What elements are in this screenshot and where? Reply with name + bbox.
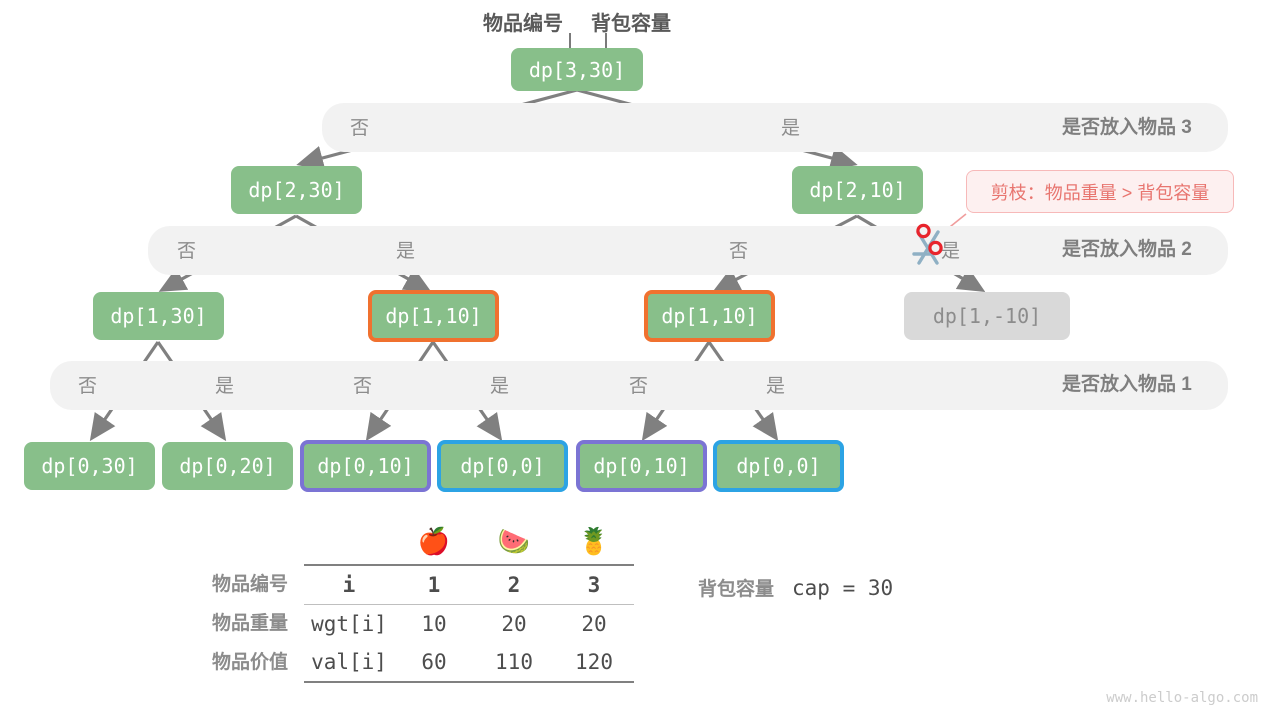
fruit-pineapple-icon: 🍍 [554, 520, 634, 565]
band1-label-no-2: 否 [353, 377, 372, 396]
node-dp-2-10[interactable]: dp[2,10] [792, 166, 923, 214]
node-dp-2-30[interactable]: dp[2,30] [231, 166, 362, 214]
leaf-dp-0-30[interactable]: dp[0,30] [24, 442, 155, 490]
capacity-note-expr: cap = 30 [792, 576, 893, 600]
cell-val-2: 110 [474, 643, 554, 682]
band3-title: 是否放入物品 3 [1062, 118, 1192, 137]
table-row-weight: 物品重量 wgt[i] 10 20 20 [170, 605, 634, 644]
band3-label-no: 否 [350, 119, 369, 138]
node-dp-1-10-b[interactable]: dp[1,10] [644, 290, 775, 342]
emoji-row-head [170, 520, 304, 565]
leaf-dp-0-10-a[interactable]: dp[0,10] [300, 440, 431, 492]
cell-i-2: 2 [474, 565, 554, 605]
row-head-item-value: 物品价值 [170, 643, 304, 682]
leaf-dp-0-0-b[interactable]: dp[0,0] [713, 440, 844, 492]
band1-label-no-3: 否 [629, 377, 648, 396]
cell-i-1: 1 [394, 565, 474, 605]
cell-wgt-3: 20 [554, 605, 634, 644]
table-row-value: 物品价值 val[i] 60 110 120 [170, 643, 634, 682]
cell-wgt-1: 10 [394, 605, 474, 644]
node-dp-1-30[interactable]: dp[1,30] [93, 292, 224, 340]
row-key-wgt: wgt[i] [304, 605, 394, 644]
leaf-dp-0-0-a[interactable]: dp[0,0] [437, 440, 568, 492]
capacity-note-title: 背包容量 [698, 579, 774, 600]
cell-i-3: 3 [554, 565, 634, 605]
band2-label-no-1: 否 [177, 242, 196, 261]
band1-label-yes-3: 是 [766, 377, 785, 396]
capacity-label: 背包容量 [591, 14, 671, 34]
fruit-watermelon-icon: 🍉 [474, 520, 554, 565]
row-head-item-index: 物品编号 [170, 565, 304, 605]
band3-label-yes: 是 [781, 119, 800, 138]
band2-label-yes-1: 是 [396, 242, 415, 261]
items-table: 🍎 🍉 🍍 物品编号 i 1 2 3 物品重量 wgt[i] 10 20 20 … [170, 520, 634, 683]
fruit-apple-icon: 🍎 [394, 520, 474, 565]
node-dp-1-neg10[interactable]: dp[1,-10] [904, 292, 1070, 340]
watermark: www.hello-algo.com [1106, 690, 1258, 706]
cell-val-1: 60 [394, 643, 474, 682]
node-dp-3-30[interactable]: dp[3,30] [511, 48, 643, 91]
table-row-index: 物品编号 i 1 2 3 [170, 565, 634, 605]
cell-wgt-2: 20 [474, 605, 554, 644]
band1-label-no-1: 否 [78, 377, 97, 396]
row-head-item-weight: 物品重量 [170, 605, 304, 644]
band2-label-no-2: 否 [729, 242, 748, 261]
row-key-val: val[i] [304, 643, 394, 682]
capacity-note: 背包容量cap = 30 [698, 578, 893, 599]
row-key-i: i [304, 565, 394, 605]
item-index-label: 物品编号 [483, 14, 563, 34]
diagram-canvas: 物品编号 背包容量 否 是 是否放入物品 3 否 是 否 是 是否放入物品 2 … [0, 0, 1280, 720]
leaf-dp-0-20[interactable]: dp[0,20] [162, 442, 293, 490]
band1-label-yes-1: 是 [215, 377, 234, 396]
table-emoji-row: 🍎 🍉 🍍 [170, 520, 634, 565]
node-dp-1-10-a[interactable]: dp[1,10] [368, 290, 499, 342]
band1-title: 是否放入物品 1 [1062, 375, 1192, 394]
band2-title: 是否放入物品 2 [1062, 240, 1192, 259]
band1-label-yes-2: 是 [490, 377, 509, 396]
leaf-dp-0-10-b[interactable]: dp[0,10] [576, 440, 707, 492]
cell-val-3: 120 [554, 643, 634, 682]
scissors-icon [908, 222, 950, 268]
prune-callout: 剪枝：物品重量 > 背包容量 [966, 170, 1234, 213]
